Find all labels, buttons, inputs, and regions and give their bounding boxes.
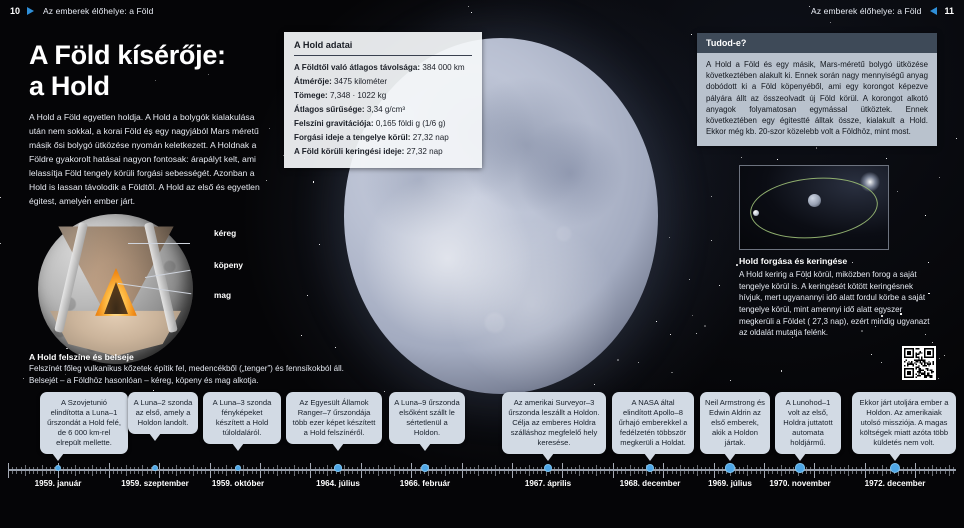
divider: [294, 55, 472, 56]
callout-tail: [794, 453, 806, 461]
timeline-axis: [8, 469, 956, 471]
cutaway-caption-title: A Hold felszíne és belseje: [29, 352, 349, 362]
callout-tail: [419, 443, 431, 451]
moon-fact-value: 7,348 · 1022 kg: [328, 91, 387, 100]
chevron-left-icon: [930, 7, 937, 15]
timeline-event-box[interactable]: A NASA által elindított Apollo–8 űrhajó …: [612, 392, 694, 454]
qr-code[interactable]: [902, 346, 936, 380]
timeline-date-label: 1967. április: [525, 479, 571, 488]
moon-fact-value: 3475 kilométer: [332, 77, 387, 86]
timeline-event-text: A Luna–2 szonda az első, amely a Holdon …: [134, 398, 193, 427]
timeline-event-text: Ekkor járt utoljára ember a Holdon. Az a…: [859, 398, 948, 447]
moon-fact-row: Tömege: 7,348 · 1022 kg: [294, 89, 472, 103]
moon-fact-label: Átlagos sűrűsége:: [294, 105, 365, 114]
timeline-event-text: A Szovjetunió elindította a Luna–1 űrszo…: [47, 398, 121, 447]
callout-tail: [644, 453, 656, 461]
timeline-dot[interactable]: [55, 465, 61, 471]
timeline-event-box[interactable]: Ekkor járt utoljára ember a Holdon. Az a…: [852, 392, 956, 454]
moon-fact-value: 3,34 g/cm³: [365, 105, 406, 114]
header-right: Az emberek élőhelye: a Föld 11: [811, 0, 954, 22]
moon-fact-row: A Föld körüli keringési ideje: 27,32 nap: [294, 145, 472, 159]
moon-fact-label: Átmérője:: [294, 77, 332, 86]
timeline-event-text: A Luna–9 űrszonda elsőként szállt le sér…: [394, 398, 459, 437]
timeline: A Szovjetunió elindította a Luna–1 űrszo…: [0, 392, 964, 528]
timeline-dot[interactable]: [334, 464, 341, 471]
timeline-dot[interactable]: [725, 463, 734, 472]
moon-fact-label: A Földtől való átlagos távolsága:: [294, 63, 420, 72]
moon-fact-row: A Földtől való átlagos távolsága: 384 00…: [294, 61, 472, 75]
did-you-know-box: Tudod-e? A Hold a Föld és egy másik, Mar…: [697, 33, 937, 146]
page-number-left: 10: [10, 6, 20, 16]
timeline-date-label: 1972. december: [865, 479, 926, 488]
header-right-title: Az emberek élőhelye: a Föld: [811, 6, 921, 16]
timeline-event-text: Az amerikai Surveyor–3 űrszonda leszállt…: [508, 398, 599, 447]
moon-fact-row: Felszíni gravitációja: 0,165 földi g (1/…: [294, 117, 472, 131]
label-crust: kéreg: [214, 228, 236, 238]
page-title-line1: A Föld kísérője:: [29, 40, 299, 71]
timeline-event-text: Neil Armstrong és Edwin Aldrin az első e…: [705, 398, 765, 447]
timeline-event-box[interactable]: Az amerikai Surveyor–3 űrszonda leszállt…: [502, 392, 606, 454]
callout-tail: [724, 453, 736, 461]
callout-tail: [542, 453, 554, 461]
timeline-date-label: 1959. október: [212, 479, 264, 488]
moon-cutaway-diagram: [38, 214, 216, 364]
header-left-title: Az emberek élőhelye: a Föld: [43, 6, 153, 16]
timeline-dot[interactable]: [795, 463, 805, 473]
timeline-event-box[interactable]: A Luna–9 űrszonda elsőként szállt le sér…: [389, 392, 465, 444]
timeline-date-label: 1959. január: [35, 479, 82, 488]
timeline-event-box[interactable]: A Luna–3 szonda fényképeket készített a …: [203, 392, 281, 444]
orbit-caption-title: Hold forgása és keringése: [739, 256, 939, 266]
moon-fact-label: Forgási ideje a tengelye körül:: [294, 133, 411, 142]
page-title-line2: a Hold: [29, 71, 299, 102]
moon-fact-row: Átlagos sűrűsége: 3,34 g/cm³: [294, 103, 472, 117]
timeline-event-text: A NASA által elindított Apollo–8 űrhajó …: [619, 398, 688, 447]
orbit-caption-body: A Hold kering a Föld körül, miközben for…: [739, 269, 937, 339]
moon-fact-label: Felszíni gravitációja:: [294, 119, 374, 128]
chevron-right-icon: [27, 7, 34, 15]
moon-fact-label: Tömege:: [294, 91, 328, 100]
moon-fact-row: Forgási ideje a tengelye körül: 27,32 na…: [294, 131, 472, 145]
timeline-date-label: 1966. február: [400, 479, 450, 488]
moon-fact-value: 27,32 nap: [404, 147, 442, 156]
moon-fact-label: A Föld körüli keringési ideje:: [294, 147, 404, 156]
leader-line-crust: [128, 243, 190, 244]
lead-paragraph: A Hold a Föld egyetlen holdja. A Hold a …: [29, 111, 263, 208]
callout-tail: [889, 453, 901, 461]
moon-fact-value: 27,32 nap: [411, 133, 449, 142]
timeline-event-box[interactable]: Neil Armstrong és Edwin Aldrin az első e…: [700, 392, 770, 454]
earth-icon: [808, 194, 821, 207]
timeline-dot[interactable]: [890, 463, 900, 473]
timeline-event-text: A Luna–3 szonda fényképeket készített a …: [213, 398, 272, 437]
did-you-know-body: A Hold a Föld és egy másik, Mars-méretű …: [697, 53, 937, 146]
orbit-path: [748, 173, 881, 244]
did-you-know-title: Tudod-e?: [697, 33, 937, 53]
moon-fact-value: 0,165 földi g (1/6 g): [374, 119, 446, 128]
moon-facts-list: A Földtől való átlagos távolsága: 384 00…: [294, 61, 472, 158]
label-mantle: köpeny: [214, 260, 243, 270]
page-number-right: 11: [944, 6, 954, 16]
timeline-event-box[interactable]: A Szovjetunió elindította a Luna–1 űrszo…: [40, 392, 128, 454]
timeline-event-text: Az Egyesült Államok Ranger–7 űrszondája …: [293, 398, 376, 437]
header-left: 10 Az emberek élőhelye: a Föld: [10, 0, 153, 22]
callout-tail: [332, 443, 344, 451]
timeline-date-label: 1969. július: [708, 479, 752, 488]
timeline-event-text: A Lunohod–1 volt az első, Holdra juttato…: [783, 398, 832, 447]
moon-facts-box: A Hold adatai A Földtől való átlagos táv…: [284, 32, 482, 168]
qr-code-icon: [904, 348, 934, 378]
timeline-event-box[interactable]: A Lunohod–1 volt az első, Holdra juttato…: [775, 392, 841, 454]
moon-facts-title: A Hold adatai: [294, 40, 472, 55]
moon-fact-row: Átmérője: 3475 kilométer: [294, 75, 472, 89]
timeline-date-label: 1964. július: [316, 479, 360, 488]
timeline-event-box[interactable]: Az Egyesült Államok Ranger–7 űrszondája …: [286, 392, 382, 444]
moon-icon: [753, 210, 759, 216]
timeline-event-box[interactable]: A Luna–2 szonda az első, amely a Holdon …: [128, 392, 198, 434]
spread-page: 10 Az emberek élőhelye: a Föld Az embere…: [0, 0, 964, 528]
timeline-date-label: 1959. szeptember: [121, 479, 189, 488]
orbit-illustration: [739, 165, 889, 250]
page-title: A Föld kísérője: a Hold: [29, 40, 299, 101]
callout-tail: [232, 443, 244, 451]
callout-tail: [149, 433, 161, 441]
moon-fact-value: 384 000 km: [420, 63, 465, 72]
timeline-dot[interactable]: [421, 464, 429, 472]
cutaway-caption-body: Felszínét főleg vulkanikus kőzetek építi…: [29, 363, 351, 386]
callout-tail: [52, 453, 64, 461]
timeline-date-label: 1970. november: [769, 479, 830, 488]
label-core: mag: [214, 290, 231, 300]
timeline-date-label: 1968. december: [620, 479, 681, 488]
